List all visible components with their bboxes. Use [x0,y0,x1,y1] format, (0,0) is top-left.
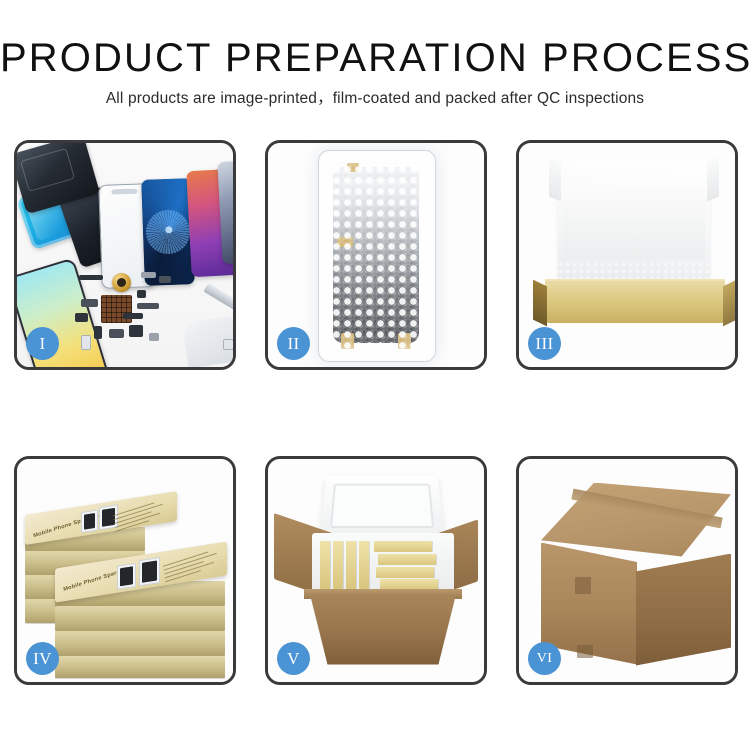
packed-box [378,554,436,565]
part-bit [75,313,88,322]
header: PRODUCT PREPARATION PROCESS All products… [0,34,750,109]
box-stack: Mobile Phone Spare Parts Mobile Phone Sp… [25,481,233,677]
part-bit [149,333,159,341]
camera-ring-icon [112,273,131,292]
packed-box [359,541,369,589]
kraft-box-body-icon [545,283,725,323]
foam-sheet-icon [563,187,705,259]
part-bit [129,325,143,337]
packed-box [346,541,356,589]
page-subtitle: All products are image-printed，film-coat… [0,89,750,109]
part-bit [94,326,102,339]
process-step-grid: I II [14,140,738,685]
part-bit [137,290,146,298]
step-4-illustration: Mobile Phone Spare Parts Mobile Phone Sp… [17,459,233,683]
process-step-3: III [516,140,738,370]
page-title: PRODUCT PREPARATION PROCESS [0,34,750,82]
part-bit [223,339,233,350]
stacked-box [55,606,225,631]
process-step-2: II [265,140,487,370]
step-1-illustration: I [17,143,233,367]
part-bit [123,313,143,319]
step-5-illustration: V [268,459,484,683]
step-badge-2: II [277,327,310,360]
packed-box [380,579,438,589]
part-bit [141,272,156,278]
part-bit [137,303,159,309]
packed-box [320,541,330,589]
phone-thumb [81,509,98,533]
part-bit [81,299,98,307]
stacked-box [55,656,225,678]
step-badge-6: VI [528,642,561,675]
process-step-6: VI [516,456,738,686]
packed-box [376,567,434,578]
spec-lines [163,549,219,585]
step-badge-4: IV [26,642,59,675]
phone-thumb [117,562,136,589]
infographic-page: PRODUCT PREPARATION PROCESS All products… [0,0,750,750]
foam-lid-icon [320,475,445,537]
step-3-illustration: III [519,143,735,367]
process-step-4: Mobile Phone Spare Parts Mobile Phone Sp… [14,456,236,686]
part-bit [109,329,124,338]
step-badge-1: I [26,327,59,360]
process-step-5: V [265,456,487,686]
step-badge-5: V [277,642,310,675]
process-step-1: I [14,140,236,370]
step-2-illustration: II [268,143,484,367]
step-badge-3: III [528,327,561,360]
phone-thumb [139,556,160,585]
carton-tab [577,645,593,658]
bag-edge [318,150,436,362]
part-bit [159,276,171,283]
part-bit [79,275,103,280]
stacked-box [55,631,225,656]
part-bit [81,335,91,350]
packed-boxes-group [320,541,446,589]
step-6-illustration: VI [519,459,735,683]
carton-body-icon [310,595,456,665]
packed-box [374,541,432,552]
carton-tab [575,577,591,594]
packed-box [333,541,343,589]
tweezers-icon [203,283,233,313]
carton-side-face [636,554,731,666]
